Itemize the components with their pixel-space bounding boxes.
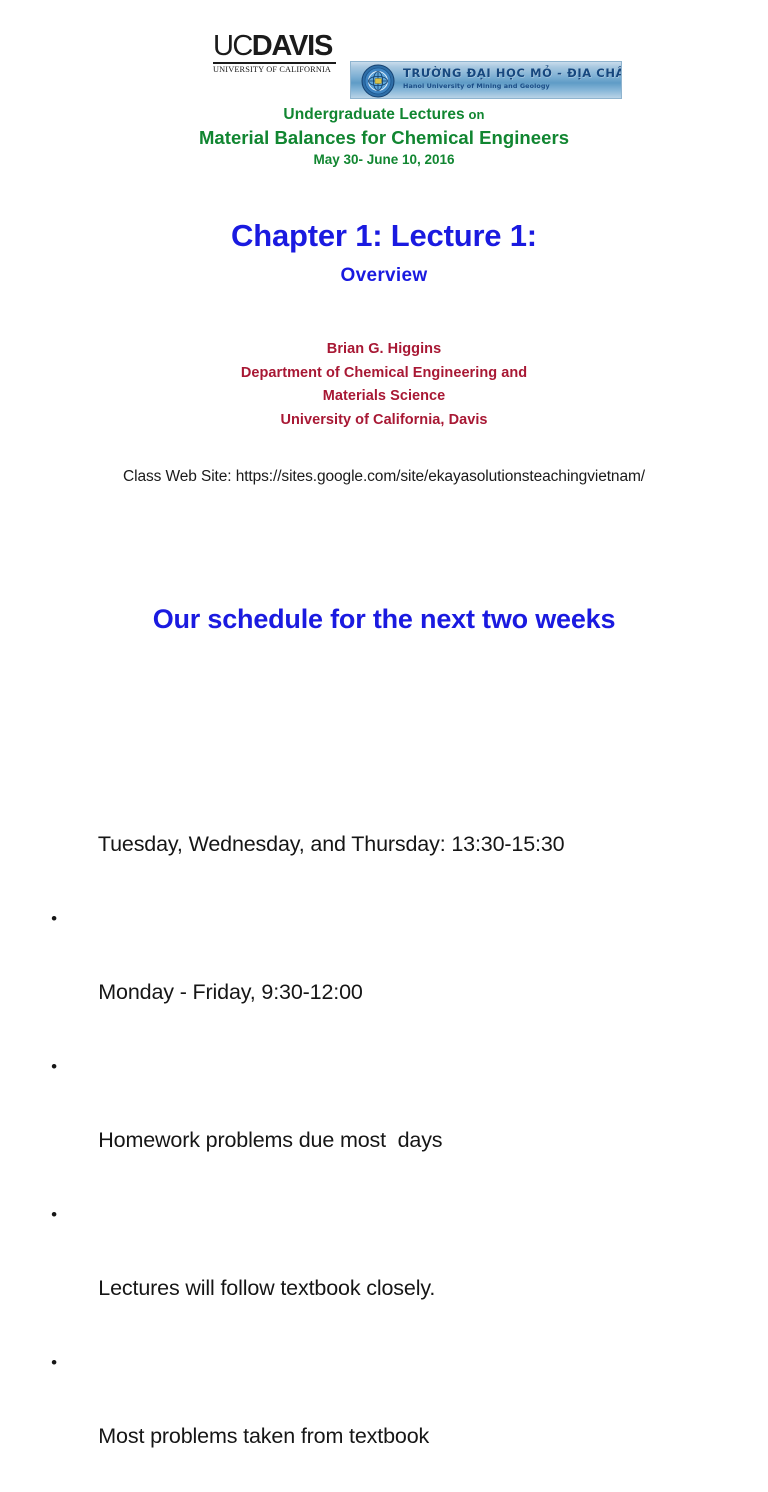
course-dates: May 30- June 10, 2016 [0,150,768,170]
ucdavis-logo: UCDAVIS UNIVERSITY OF CALIFORNIA [213,32,338,75]
course-series-suffix: on [465,107,485,122]
list-item: • Tuesday, Wednesday, and Thursday: 13:3… [40,752,730,900]
humg-banner-text: TRƯỜNG ĐẠI HỌC MỎ - ĐỊA CHẤT Hanoi Unive… [403,66,618,91]
bullet-icon: • [47,900,61,937]
course-series-line: Undergraduate Lectures on [0,104,768,125]
course-heading-block: Undergraduate Lectures on Material Balan… [0,104,768,170]
list-item-label: Most problems taken from textbook [98,1424,429,1448]
list-item-label: Homework problems due most days [98,1128,442,1152]
bullet-icon: • [47,1048,61,1085]
chapter-subtitle: Overview [0,264,768,288]
ucdavis-wordmark: UCDAVIS [213,32,338,61]
author-institution: University of California, Davis [0,409,768,433]
ucdavis-wordmark-davis: DAVIS [252,30,332,62]
ucdavis-wordmark-uc: UC [213,30,252,62]
list-item-label: Monday - Friday, 9:30-12:00 [98,980,362,1004]
logo-row: UCDAVIS UNIVERSITY OF CALIFORNIA TRƯỜNG … [0,28,768,76]
list-item-label: Tuesday, Wednesday, and Thursday: 13:30-… [98,832,565,856]
class-web-site-line: Class Web Site: https://sites.google.com… [0,466,768,488]
list-item: • Lectures will follow textbook closely. [40,1196,730,1344]
author-block: Brian G. Higgins Department of Chemical … [0,338,768,432]
chapter-title: Chapter 1: Lecture 1: [0,218,768,254]
humg-banner-subtitle: Hanoi University of Mining and Geology [403,82,618,91]
bullet-icon: • [47,1196,61,1233]
list-item: • Monday - Friday, 9:30-12:00 [40,900,730,1048]
author-name: Brian G. Higgins [0,338,768,362]
course-title: Material Balances for Chemical Engineers [0,125,768,150]
humg-emblem-icon [361,64,395,98]
list-item-label: Lectures will follow textbook closely. [98,1276,435,1300]
schedule-list: • Tuesday, Wednesday, and Thursday: 13:3… [40,752,730,1492]
bullet-icon: • [47,1344,61,1381]
list-item: • Homework problems due most days [40,1048,730,1196]
humg-banner: TRƯỜNG ĐẠI HỌC MỎ - ĐỊA CHẤT Hanoi Unive… [350,61,622,99]
author-department-line-2: Materials Science [0,385,768,409]
author-department-line-1: Department of Chemical Engineering and [0,362,768,386]
humg-banner-title: TRƯỜNG ĐẠI HỌC MỎ - ĐỊA CHẤT [403,66,618,80]
course-series-main: Undergraduate Lectures [283,106,464,123]
schedule-heading: Our schedule for the next two weeks [0,600,768,638]
list-item: • Most problems taken from textbook [40,1344,730,1492]
ucdavis-logo-subtitle: UNIVERSITY OF CALIFORNIA [213,64,338,75]
